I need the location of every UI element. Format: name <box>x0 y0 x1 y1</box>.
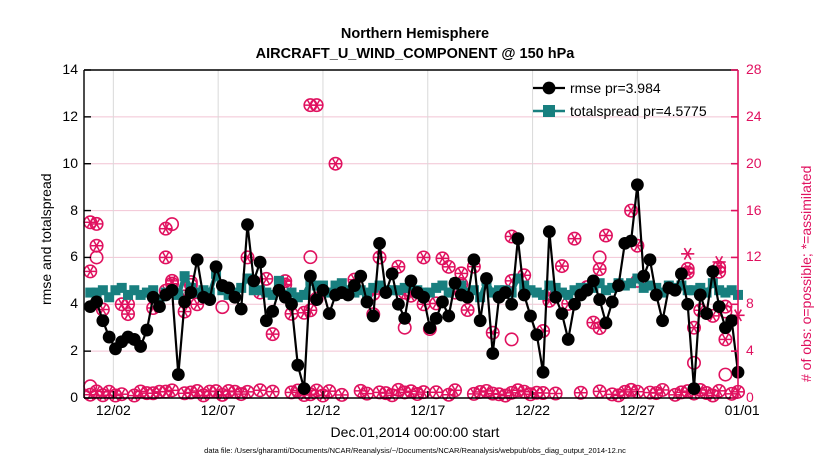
rmse-marker <box>379 286 392 299</box>
rmse-marker <box>549 291 562 304</box>
figure-canvas: Northern Hemisphere AIRCRAFT_U_WIND_COMP… <box>0 0 830 470</box>
rmse-marker <box>354 270 367 283</box>
rmse-marker <box>480 272 493 285</box>
y-tick-label-left: 8 <box>40 202 78 218</box>
y-tick-label-left: 2 <box>40 342 78 358</box>
obs-possible-marker <box>505 333 517 345</box>
obs-possible-marker <box>688 357 700 369</box>
x-tick-label: 12/07 <box>188 402 248 418</box>
rmse-marker <box>631 178 644 191</box>
rmse-marker <box>185 286 198 299</box>
legend-item-totalspread[interactable]: totalspread pr=4.5775 <box>532 99 732 122</box>
rmse-marker <box>266 305 279 318</box>
rmse-marker <box>713 300 726 313</box>
rmse-marker <box>291 359 304 372</box>
rmse-marker <box>681 298 694 311</box>
rmse-marker <box>172 368 185 381</box>
rmse-marker <box>90 296 103 309</box>
y-tick-label-right: 16 <box>746 202 786 218</box>
rmse-marker <box>650 289 663 302</box>
y-tick-label-left: 6 <box>40 248 78 264</box>
rmse-marker <box>298 382 311 395</box>
rmse-marker <box>373 237 386 250</box>
rmse-marker <box>725 314 738 327</box>
y-tick-label-right: 20 <box>746 155 786 171</box>
x-tick-label: 12/02 <box>83 402 143 418</box>
legend-label-rmse: rmse pr=3.984 <box>570 80 661 96</box>
y-tick-label-right: 12 <box>746 248 786 264</box>
y-tick-label-left: 12 <box>40 108 78 124</box>
rmse-marker <box>518 289 531 302</box>
rmse-marker <box>656 314 669 327</box>
rmse-marker <box>449 277 462 290</box>
obs-marker-layer <box>84 99 745 402</box>
rmse-marker <box>210 260 223 273</box>
rmse-marker <box>140 324 153 337</box>
rmse-marker <box>524 310 537 323</box>
rmse-marker <box>486 347 499 360</box>
rmse-marker <box>317 284 330 297</box>
rmse-marker <box>153 300 166 313</box>
rmse-marker <box>688 382 701 395</box>
x-tick-label: 01/01 <box>712 402 772 418</box>
rmse-marker <box>203 293 216 306</box>
rmse-marker <box>367 310 380 323</box>
rmse-marker <box>96 314 109 327</box>
y-tick-label-right: 28 <box>746 61 786 77</box>
plot-area <box>0 0 830 470</box>
y-tick-label-left: 10 <box>40 155 78 171</box>
y-tick-label-right: 4 <box>746 342 786 358</box>
rmse-marker <box>706 265 719 278</box>
x-tick-label: 12/27 <box>607 402 667 418</box>
y-tick-label-left: 4 <box>40 295 78 311</box>
rmse-marker <box>587 274 600 287</box>
rmse-marker <box>166 284 179 297</box>
rmse-marker <box>430 312 443 325</box>
rmse-marker <box>405 274 418 287</box>
x-tick-label: 12/17 <box>398 402 458 418</box>
rmse-marker <box>254 256 267 269</box>
rmse-marker <box>229 291 242 304</box>
rmse-marker <box>537 366 550 379</box>
y-tick-label-right: 24 <box>746 108 786 124</box>
rmse-marker <box>600 317 613 330</box>
rmse-marker <box>398 312 411 325</box>
y-tick-label-right: 8 <box>746 295 786 311</box>
rmse-marker <box>467 253 480 266</box>
rmse-marker <box>556 307 569 320</box>
x-tick-label: 12/12 <box>293 402 353 418</box>
rmse-marker <box>625 235 638 248</box>
rmse-marker <box>103 331 116 344</box>
rmse-marker <box>386 267 399 280</box>
rmse-marker <box>694 289 707 302</box>
y-tick-label-left: 0 <box>40 389 78 405</box>
rmse-marker <box>235 303 248 316</box>
rmse-marker <box>417 291 430 304</box>
rmse-marker <box>669 284 682 297</box>
rmse-marker <box>499 286 512 299</box>
totalspread-marker <box>299 290 309 300</box>
rmse-marker <box>593 293 606 306</box>
rmse-marker <box>392 298 405 311</box>
rmse-marker <box>323 307 336 320</box>
legend-marker-filled-square <box>532 101 566 121</box>
legend-marker-filled-circle <box>532 78 566 98</box>
rmse-marker <box>530 328 543 341</box>
rmse-marker <box>543 225 556 238</box>
chart-legend: rmse pr=3.984 totalspread pr=4.5775 <box>532 76 732 122</box>
rmse-marker <box>436 296 449 309</box>
obs-possible-marker <box>719 368 731 380</box>
rmse-marker <box>700 307 713 320</box>
rmse-marker <box>644 253 657 266</box>
rmse-marker <box>134 340 147 353</box>
rmse-marker <box>361 296 374 309</box>
totalspread-marker <box>236 283 246 293</box>
rmse-marker <box>461 291 474 304</box>
rmse-marker <box>612 279 625 292</box>
rmse-marker <box>241 218 254 231</box>
y-tick-label-left: 14 <box>40 61 78 77</box>
rmse-marker <box>562 333 575 346</box>
rmse-marker <box>675 267 688 280</box>
rmse-marker <box>505 298 518 311</box>
legend-label-totalspread: totalspread pr=4.5775 <box>570 103 707 119</box>
rmse-marker <box>606 296 619 309</box>
rmse-marker <box>442 310 455 323</box>
rmse-marker <box>247 274 260 287</box>
x-tick-label: 12/22 <box>503 402 563 418</box>
rmse-marker <box>637 270 650 283</box>
rmse-marker <box>285 298 298 311</box>
rmse-marker <box>512 232 525 245</box>
totalspread-marker <box>180 271 190 281</box>
rmse-marker <box>304 270 317 283</box>
rmse-marker <box>191 253 204 266</box>
legend-item-rmse[interactable]: rmse pr=3.984 <box>532 76 732 99</box>
rmse-marker <box>474 314 487 327</box>
